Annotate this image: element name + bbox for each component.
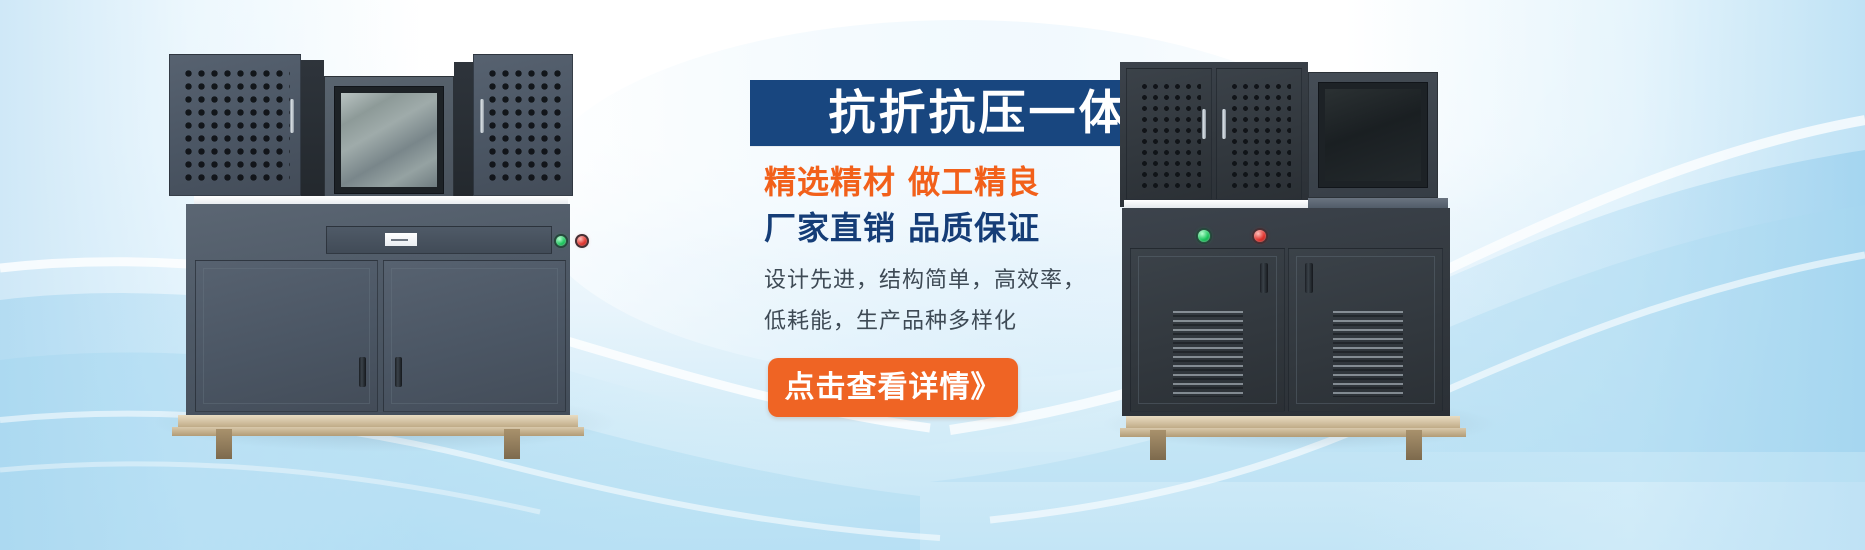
pallet-plank-bottom xyxy=(172,427,584,436)
left-upper-right-door-handle xyxy=(480,99,484,133)
left-indicator-red[interactable] xyxy=(577,236,587,246)
right-upper-door-1-handle xyxy=(1202,109,1206,139)
perforation-pattern xyxy=(1137,79,1201,189)
view-details-button[interactable]: 点击查看详情》 xyxy=(768,358,1018,417)
right-indicator-red[interactable] xyxy=(1254,230,1266,242)
right-lower-door-1-handle xyxy=(1260,263,1268,293)
left-indicator-green[interactable] xyxy=(556,236,566,246)
perforation-pattern xyxy=(180,65,290,185)
view-details-label: 点击查看详情》 xyxy=(785,373,1002,403)
left-upper-left-door xyxy=(169,54,301,196)
right-upper-door-1 xyxy=(1126,68,1212,200)
right-monitor-bezel xyxy=(1318,82,1428,188)
left-monitor-bezel xyxy=(334,86,444,194)
left-control-label xyxy=(385,233,417,246)
right-upper-door-2 xyxy=(1216,68,1302,200)
right-wood-pallet xyxy=(1114,366,1474,432)
left-monitor-housing xyxy=(324,76,454,204)
right-monitor-housing xyxy=(1308,72,1438,198)
left-wood-pallet xyxy=(168,363,588,429)
left-upper-left-door-handle xyxy=(290,99,294,133)
banner-stage: 抗折抗压一体机 精选精材 做工精良 厂家直销 品质保证 设计先进，结构简单，高效… xyxy=(0,0,1865,550)
pallet-foot-left xyxy=(1150,430,1166,460)
pallet-foot-right xyxy=(1406,430,1422,460)
product-right-machine xyxy=(1120,50,1490,430)
right-upper-door-2-handle xyxy=(1222,109,1226,139)
right-upper-shelf-cap xyxy=(1308,198,1448,208)
product-left-machine xyxy=(168,48,588,428)
left-upper-right-door xyxy=(473,54,573,196)
pallet-foot-right xyxy=(504,429,520,459)
perforation-pattern xyxy=(484,65,562,185)
right-indicator-green[interactable] xyxy=(1198,230,1210,242)
perforation-pattern xyxy=(1227,79,1291,189)
left-control-tray xyxy=(326,226,552,254)
right-lower-door-2-handle xyxy=(1305,263,1313,293)
left-monitor-screen xyxy=(341,93,437,187)
right-monitor-screen xyxy=(1325,89,1421,181)
pallet-foot-left xyxy=(216,429,232,459)
